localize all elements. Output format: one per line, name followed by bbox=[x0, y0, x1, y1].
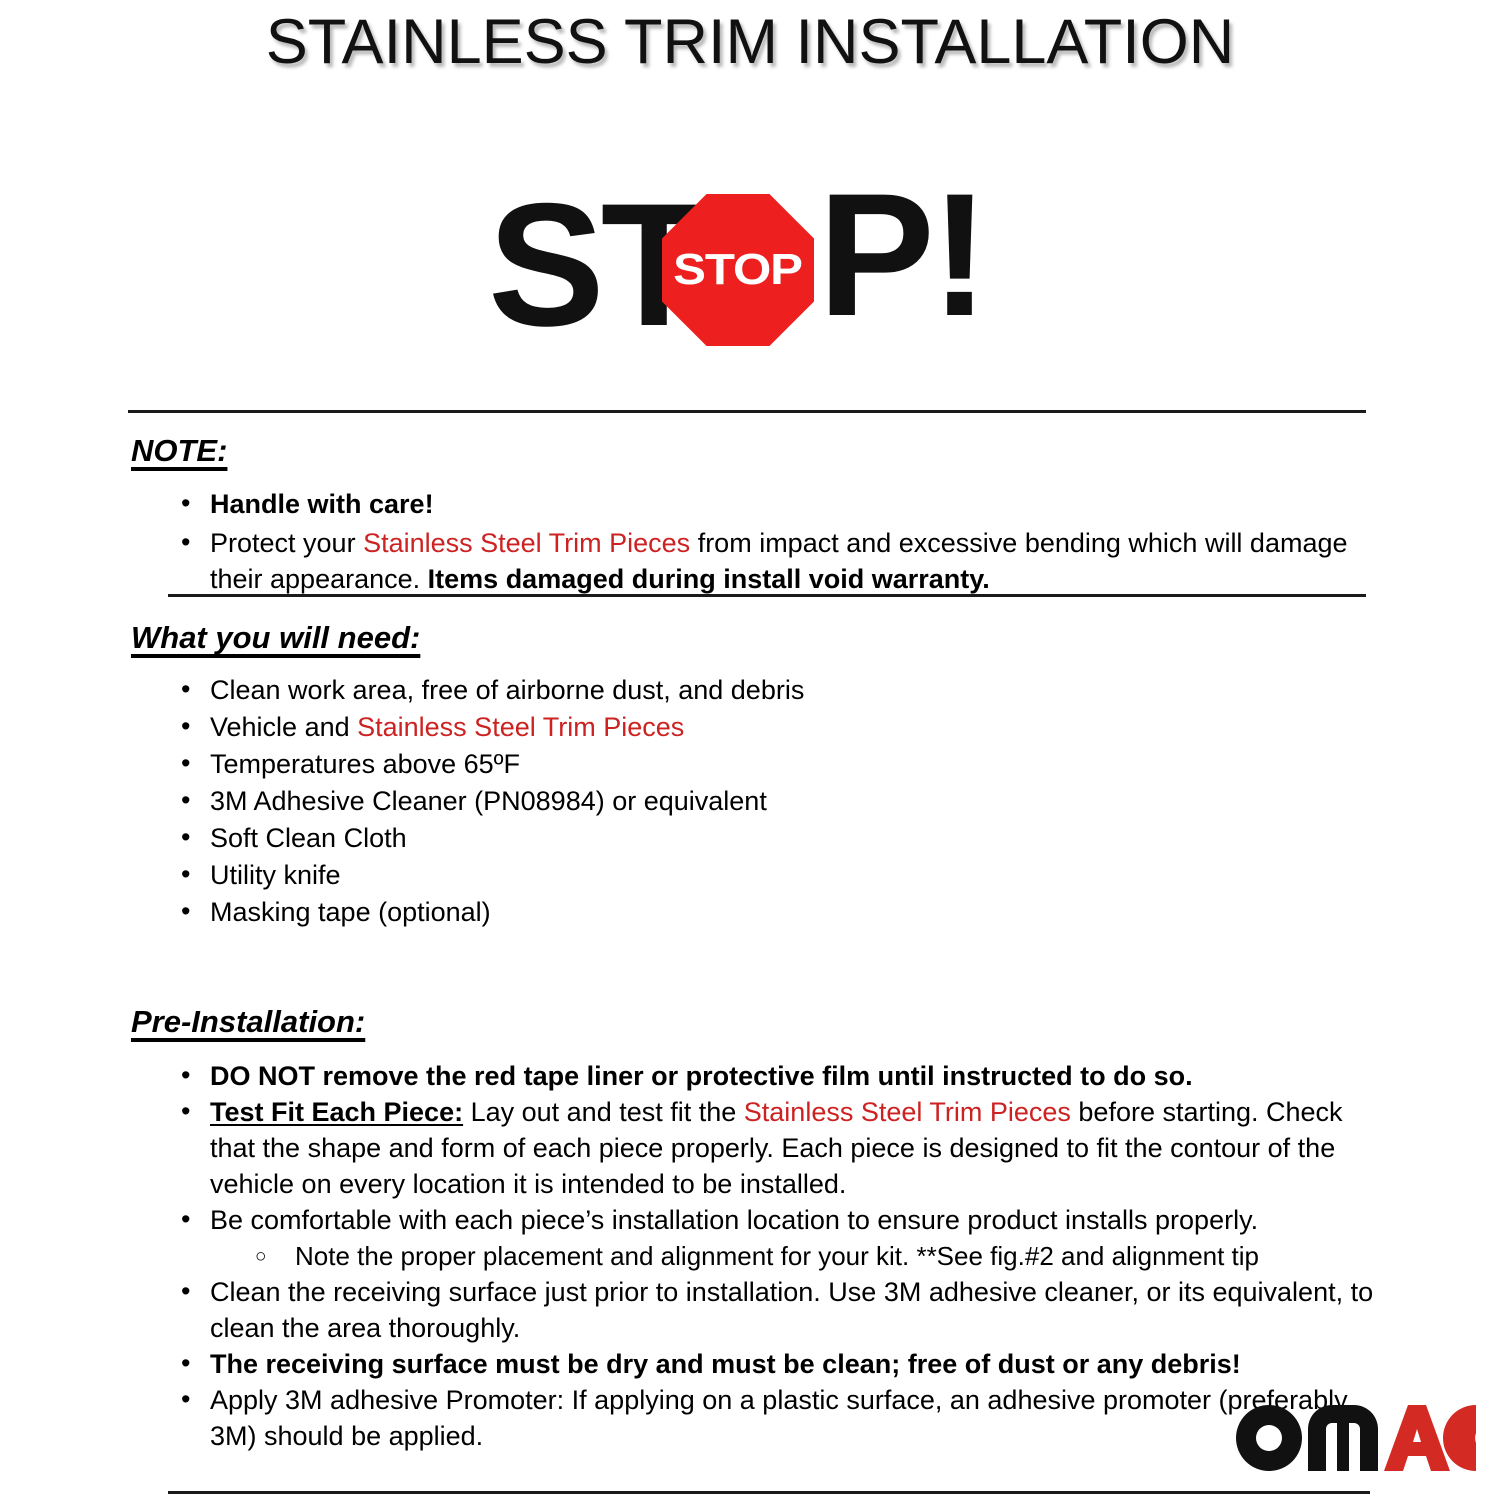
pre-item-1-run-0-bold-underline: Test Fit Each Piece: bbox=[210, 1097, 463, 1127]
list-item: Protect your Stainless Steel Trim Pieces… bbox=[175, 525, 1365, 597]
pre-item-2-text: Be comfortable with each piece’s install… bbox=[210, 1205, 1258, 1235]
list-item: Be comfortable with each piece’s install… bbox=[175, 1202, 1375, 1238]
note-item-1-run-0: Protect your bbox=[210, 528, 363, 558]
pre-item-1-run-1: Lay out and test fit the bbox=[463, 1097, 744, 1127]
need-item-4-text: Soft Clean Cloth bbox=[210, 823, 407, 853]
list-item: Temperatures above 65ºF bbox=[175, 746, 1275, 782]
need-item-0-text: Clean work area, free of airborne dust, … bbox=[210, 675, 804, 705]
note-list: Handle with care! Protect your Stainless… bbox=[175, 486, 1365, 600]
pre-item-6-text: Apply 3M adhesive Promoter: If applying … bbox=[210, 1385, 1348, 1451]
note-item-1-run-3-bold: Items damaged during install void warran… bbox=[428, 564, 990, 594]
need-item-1-run-1-red: Stainless Steel Trim Pieces bbox=[357, 712, 684, 742]
list-item: 3M Adhesive Cleaner (PN08984) or equival… bbox=[175, 783, 1275, 819]
installation-instructions-page: STAINLESS TRIM INSTALLATION ST STOP P! N… bbox=[0, 0, 1500, 1500]
need-item-6-text: Masking tape (optional) bbox=[210, 897, 491, 927]
list-item: Soft Clean Cloth bbox=[175, 820, 1275, 856]
list-item: DO NOT remove the red tape liner or prot… bbox=[175, 1058, 1375, 1094]
list-item: Masking tape (optional) bbox=[175, 894, 1275, 930]
pre-installation-heading: Pre-Installation: bbox=[131, 1004, 365, 1040]
stop-graphic-suffix: P! bbox=[818, 176, 985, 336]
omac-logo bbox=[1236, 1405, 1476, 1471]
list-item: Vehicle and Stainless Steel Trim Pieces bbox=[175, 709, 1275, 745]
need-item-2-text: Temperatures above 65ºF bbox=[210, 749, 520, 779]
pre-item-5-text: The receiving surface must be dry and mu… bbox=[210, 1349, 1241, 1379]
omac-logo-icon bbox=[1236, 1405, 1476, 1471]
list-item: Clean the receiving surface just prior t… bbox=[175, 1274, 1375, 1346]
stop-sign-label: STOP bbox=[674, 248, 803, 292]
page-title: STAINLESS TRIM INSTALLATION bbox=[0, 8, 1500, 77]
list-item: Clean work area, free of airborne dust, … bbox=[175, 672, 1275, 708]
pre-item-4-text: Clean the receiving surface just prior t… bbox=[210, 1277, 1373, 1343]
need-item-5-text: Utility knife bbox=[210, 860, 341, 890]
omac-letter-a bbox=[1384, 1405, 1450, 1471]
pre-item-1-run-2-red: Stainless Steel Trim Pieces bbox=[744, 1097, 1071, 1127]
list-item: The receiving surface must be dry and mu… bbox=[175, 1346, 1375, 1382]
note-item-0-text: Handle with care! bbox=[210, 489, 434, 519]
list-item: Utility knife bbox=[175, 857, 1275, 893]
list-item: Handle with care! bbox=[175, 486, 1365, 522]
what-you-will-need-list: Clean work area, free of airborne dust, … bbox=[175, 672, 1275, 931]
stop-sign-octagon-icon: STOP bbox=[662, 194, 814, 346]
note-item-1-run-1-red: Stainless Steel Trim Pieces bbox=[363, 528, 690, 558]
pre-item-3-text: Note the proper placement and alignment … bbox=[295, 1241, 1259, 1271]
what-you-will-need-heading: What you will need: bbox=[131, 620, 420, 656]
pre-item-0-text: DO NOT remove the red tape liner or prot… bbox=[210, 1061, 1193, 1091]
pre-installation-list: DO NOT remove the red tape liner or prot… bbox=[175, 1058, 1375, 1454]
list-item: Test Fit Each Piece: Lay out and test fi… bbox=[175, 1094, 1375, 1202]
divider-top bbox=[128, 410, 1366, 413]
need-item-1-run-0: Vehicle and bbox=[210, 712, 357, 742]
list-item-sub: Note the proper placement and alignment … bbox=[175, 1238, 1375, 1274]
note-heading: NOTE: bbox=[131, 433, 227, 469]
need-item-3-text: 3M Adhesive Cleaner (PN08984) or equival… bbox=[210, 786, 767, 816]
divider-bottom bbox=[168, 1491, 1370, 1494]
omac-letter-o bbox=[1236, 1405, 1302, 1471]
list-item: Apply 3M adhesive Promoter: If applying … bbox=[175, 1382, 1375, 1454]
omac-letter-m bbox=[1308, 1405, 1378, 1471]
stop-graphic: ST STOP P! bbox=[488, 176, 988, 356]
